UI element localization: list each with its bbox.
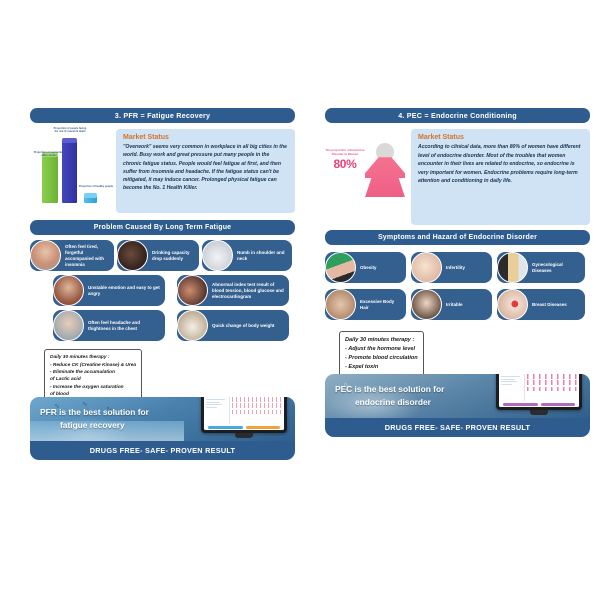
market-status-box-pec: Market Status According to clinical data… <box>411 129 590 225</box>
banner-text-pec: PEC is the best solution for endocrine d… <box>335 383 499 409</box>
market-status-row-pfr: Proportion of people facing the risk of … <box>30 129 295 213</box>
therapy-callout-line: - Expel toxin <box>345 363 418 372</box>
symptom-card[interactable]: Gynecological Diseases <box>497 252 585 283</box>
woman-pictogram-icon <box>361 141 409 225</box>
footer-strip-pfr: DRUGS FREE- SAFE- PROVEN RESULT <box>30 441 295 460</box>
tablet-right-pane <box>230 397 284 424</box>
device-tablet-pfr <box>201 397 287 433</box>
problem-card-label: Quick change of body weight <box>208 323 278 329</box>
tablet-screen <box>204 397 284 430</box>
therapy-callout-line: - Adjust the hormone level <box>345 345 418 354</box>
therapy-callout-pfr: Daily 30 minutes therapy : - Reduce CK (… <box>44 349 142 404</box>
market-status-box-pfr: Market Status "Overwork" seems very comm… <box>116 129 295 213</box>
footer-strip-pec: DRUGS FREE- SAFE- PROVEN RESULT <box>325 418 590 437</box>
section-header-symptoms: Symptoms and Hazard of Endocrine Disorde… <box>325 230 590 245</box>
problem-card-label: Numb in shoulder and neck <box>233 250 292 262</box>
problem-thumbnail-headache <box>53 310 84 341</box>
market-status-row-pec: The proportion of Endocrine Disorder In … <box>325 129 590 225</box>
symptom-card-label: Obesity <box>356 265 380 271</box>
panel-header-pec: 4. PEC = Endocrine Conditioning <box>325 108 590 123</box>
symptom-card[interactable]: Breast Diseases <box>497 289 585 320</box>
symptom-card[interactable]: Excessive Body Hair <box>325 289 406 320</box>
symptom-card-row: Excessive Body Hair Irritable Breast Dis… <box>325 289 590 320</box>
problem-thumbnail-blood-test <box>177 275 208 306</box>
tablet-footer-buttons <box>204 424 284 430</box>
symptom-card-label: Excessive Body Hair <box>356 299 406 311</box>
tablet-body <box>204 397 284 424</box>
market-status-title-pfr: Market Status <box>123 134 289 141</box>
problem-thumbnail-neck <box>202 240 233 271</box>
stat-value: 80% <box>325 157 365 171</box>
symptom-card-label: Infertility <box>442 265 468 271</box>
market-status-text-pfr: "Overwork" seems very common in workplac… <box>123 143 289 193</box>
tablet-left-pane <box>499 374 525 401</box>
tablet-left-pane <box>204 397 230 424</box>
problem-thumbnail-anger <box>53 275 84 306</box>
brochure-page: 3. PFR = Fatigue Recovery Proportion of … <box>0 0 600 600</box>
tablet-secondary-button[interactable] <box>541 403 576 406</box>
device-tablet-pec <box>496 374 582 410</box>
problem-card-row: Often feel tired, forgetful accompanied … <box>30 240 295 271</box>
chart-label-overworked-office-worker: Proportion of overworked office worker <box>31 151 67 157</box>
problem-thumbnail-drinking <box>117 240 148 271</box>
problem-card[interactable]: Quick change of body weight <box>177 310 289 341</box>
tablet-primary-button[interactable] <box>503 403 538 406</box>
problem-card-label: Often feel tired, forgetful accompanied … <box>61 244 114 268</box>
panel-pec: 4. PEC = Endocrine Conditioning The prop… <box>325 108 590 483</box>
banner-line-1: PFR is the best solution for <box>40 407 149 417</box>
symptom-card-label: Gynecological Diseases <box>528 262 585 274</box>
problem-card[interactable]: Often feel headache and thightness in th… <box>53 310 165 341</box>
problem-card[interactable]: Unstable emotion and easy to get angry <box>53 275 165 306</box>
panel-header-pfr: 3. PFR = Fatigue Recovery <box>30 108 295 123</box>
tablet-stand <box>530 410 548 415</box>
market-status-title-pec: Market Status <box>418 134 584 141</box>
problem-card-label: Often feel headache and thightness in th… <box>84 320 165 332</box>
therapy-callout-line: Daily 30 minutes therapy : <box>50 354 136 361</box>
symptom-thumbnail-infertility <box>411 252 442 283</box>
chart-label-overwork-death: Proportion of people facing the risk of … <box>52 127 88 133</box>
problem-card-row: Unstable emotion and easy to get angry A… <box>30 275 295 306</box>
problem-card[interactable]: Drinking capacity drop suddenly <box>117 240 199 271</box>
banner-line-1: PEC is the best solution for <box>335 384 444 394</box>
panel-pfr: 3. PFR = Fatigue Recovery Proportion of … <box>30 108 295 483</box>
fatigue-bar-chart: Proportion of people facing the risk of … <box>30 129 116 213</box>
tablet-primary-button[interactable] <box>208 426 243 429</box>
symptom-card[interactable]: Irritable <box>411 289 492 320</box>
problem-card-label: Drinking capacity drop suddenly <box>148 250 199 262</box>
problem-card-grid: Often feel tired, forgetful accompanied … <box>30 240 295 341</box>
therapy-callout-line: of Lactic acid <box>50 376 136 383</box>
symptom-thumbnail-obesity <box>325 252 356 283</box>
symptom-card[interactable]: Obesity <box>325 252 406 283</box>
tablet-secondary-button[interactable] <box>246 426 281 429</box>
pictogram-body <box>365 157 405 197</box>
banner-line-2: endocrine disorder <box>335 396 499 409</box>
market-status-text-pec: According to clinical data, more than 80… <box>418 143 584 186</box>
symptom-card-label: Irritable <box>442 302 466 308</box>
symptom-thumbnail-gynecological <box>497 252 528 283</box>
problem-card[interactable]: Often feel tired, forgetful accompanied … <box>30 240 114 271</box>
tablet-footer-buttons <box>499 401 579 407</box>
banner-text-pfr: PFR is the best solution for fatigue rec… <box>40 406 204 432</box>
solution-banner-pec: ∿ PEC is the best solution for endocrine… <box>325 374 590 418</box>
banner-line-2: fatigue recovery <box>40 419 204 432</box>
tablet-right-pane <box>525 374 579 401</box>
chart-bar-healthy-people <box>84 196 97 203</box>
symptom-card-grid: Obesity Infertility Gynecological Diseas… <box>325 252 590 320</box>
symptom-card-label: Breast Diseases <box>528 302 570 308</box>
problem-card[interactable]: Numb in shoulder and neck <box>202 240 292 271</box>
solution-banner-pfr: ∿ ∿ ∿ PFR is the best solution for fatig… <box>30 397 295 441</box>
problem-card[interactable]: Abnormal index test result of blood tens… <box>177 275 289 306</box>
stat-caption: The proportion of Endocrine Disorder In … <box>325 149 365 157</box>
problem-card-row: Often feel headache and thightness in th… <box>30 310 295 341</box>
endocrine-statistic-figure: The proportion of Endocrine Disorder In … <box>325 129 411 225</box>
symptom-card[interactable]: Infertility <box>411 252 492 283</box>
chart-bar-overworked-office-worker <box>42 155 58 203</box>
therapy-callout-line: - Increase the oxygen saturation <box>50 384 136 391</box>
problem-card-label: Abnormal index test result of blood tens… <box>208 282 289 300</box>
chart-area: Proportion of people facing the risk of … <box>32 129 116 209</box>
tablet-stand <box>235 433 253 438</box>
chart-label-healthy-people: Proportion of healthy people <box>78 185 114 188</box>
section-header-problems: Problem Caused By Long Term Fatigue <box>30 220 295 235</box>
therapy-callout-line: Daily 30 minutes therapy : <box>345 336 418 345</box>
problem-thumbnail-weight <box>177 310 208 341</box>
therapy-callout-line: - Reduce CK (Creatine Kinase) & Urea <box>50 362 136 369</box>
therapy-callout-line: - Eliminate the accumulation <box>50 369 136 376</box>
symptom-thumbnail-irritable <box>411 289 442 320</box>
symptom-thumbnail-body-hair <box>325 289 356 320</box>
symptom-card-row: Obesity Infertility Gynecological Diseas… <box>325 252 590 283</box>
problem-thumbnail-insomnia <box>30 240 61 271</box>
problem-card-label: Unstable emotion and easy to get angry <box>84 285 165 297</box>
tablet-body <box>499 374 579 401</box>
stat-block: The proportion of Endocrine Disorder In … <box>325 149 365 171</box>
symptom-thumbnail-breast <box>497 289 528 320</box>
tablet-screen <box>499 374 579 407</box>
therapy-callout-pec: Daily 30 minutes therapy : - Adjust the … <box>339 331 424 377</box>
therapy-callout-line: - Promote blood circulation <box>345 354 418 363</box>
